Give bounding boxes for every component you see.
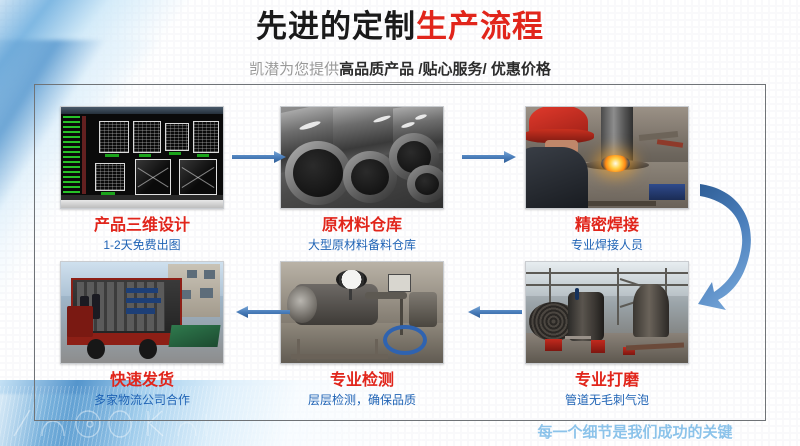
header-divider <box>250 82 550 83</box>
arrow-step5-to-step6-icon <box>228 305 290 319</box>
page-subtitle: 凯潜为您提供高品质产品 /贴心服务/ 优惠价格 <box>0 59 800 81</box>
loading-truck-photo <box>60 261 224 364</box>
step-title: 原材料仓库 <box>277 216 447 235</box>
arrow-step1-to-step2-icon <box>232 150 286 164</box>
page-title-red: 生产流程 <box>416 9 544 44</box>
step-title: 专业检测 <box>277 371 447 390</box>
step-title: 专业打磨 <box>522 371 692 390</box>
step-subtitle: 专业焊接人员 <box>522 237 692 253</box>
step-title: 精密焊接 <box>522 216 692 235</box>
step-precision-welding[interactable]: 精密焊接 专业焊接人员 <box>522 106 692 253</box>
step-subtitle: 1-2天免费出图 <box>57 237 227 253</box>
step-fast-shipping[interactable]: 快速发货 多家物流公司合作 <box>57 261 227 408</box>
arrow-step4-to-step5-icon <box>460 305 522 319</box>
step-title: 快速发货 <box>57 371 227 390</box>
arrow-step3-to-step4-curve-icon <box>696 178 762 314</box>
pressure-test-equipment-photo <box>280 261 444 364</box>
cad-drawing-screenshot <box>60 106 224 209</box>
step-professional-inspection[interactable]: 专业检测 层层检测，确保品质 <box>277 261 447 408</box>
page-subtitle-dark: 高品质产品 /贴心服务/ 优惠价格 <box>339 61 551 78</box>
page-title: 先进的定制生产流程 <box>0 8 800 46</box>
step-subtitle: 层层检测，确保品质 <box>277 392 447 408</box>
step-professional-grinding[interactable]: 专业打磨 管道无毛刺气泡 <box>522 261 692 408</box>
step-subtitle: 管道无毛刺气泡 <box>522 392 692 408</box>
step-raw-material-warehouse[interactable]: 原材料仓库 大型原材料备料仓库 <box>277 106 447 253</box>
step-title: 产品三维设计 <box>57 216 227 235</box>
page-title-dark: 先进的定制 <box>256 9 416 44</box>
factory-tanks-photo <box>525 261 689 364</box>
footer-tagline: 每一个细节是我们成功的关键 <box>480 423 790 443</box>
step-subtitle: 多家物流公司合作 <box>57 392 227 408</box>
slide-canvas: 先进的定制生产流程 凯潜为您提供高品质产品 /贴心服务/ 优惠价格 <box>0 0 800 446</box>
page-subtitle-gray: 凯潜为您提供 <box>249 61 339 78</box>
step-subtitle: 大型原材料备料仓库 <box>277 237 447 253</box>
arrow-step2-to-step3-icon <box>462 150 516 164</box>
welder-photo <box>525 106 689 209</box>
steel-pipes-photo <box>280 106 444 209</box>
step-product-3d-design[interactable]: 产品三维设计 1-2天免费出图 <box>57 106 227 253</box>
